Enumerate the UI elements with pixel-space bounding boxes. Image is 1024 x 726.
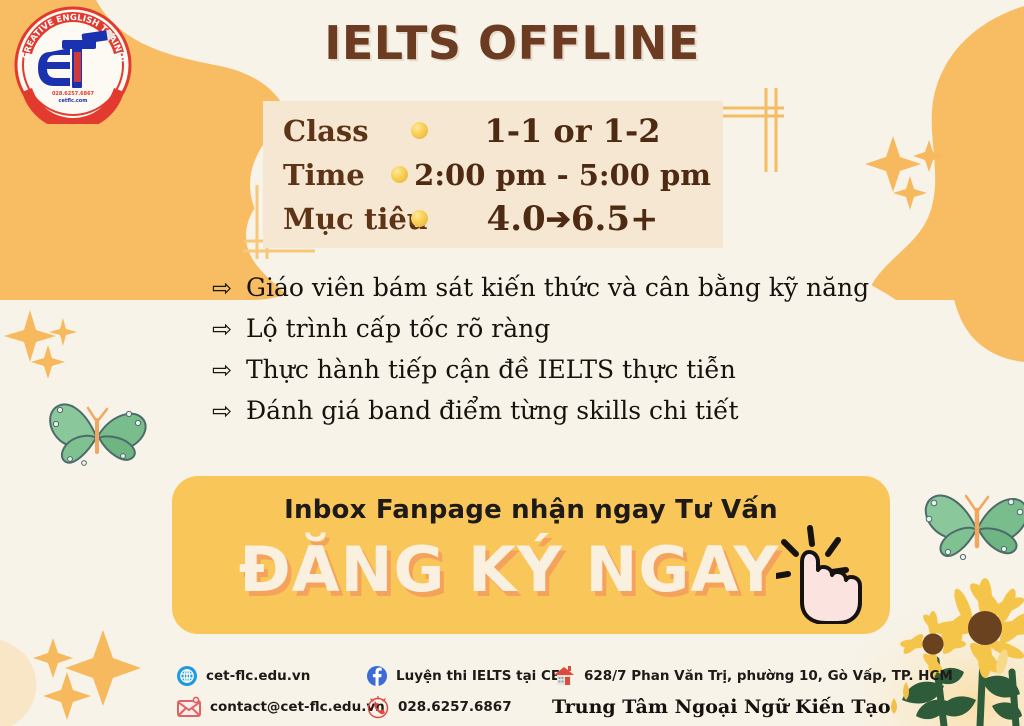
- list-item: ⇨ Thực hành tiếp cận đề IELTS thực tiễn: [212, 356, 912, 384]
- footer-website-label: cet-flc.edu.vn: [206, 668, 310, 684]
- goal-arrow-icon: ➔: [546, 202, 571, 237]
- phone-ring-icon: [366, 695, 390, 719]
- benefits-list: ⇨ Giáo viên bám sát kiến thức và cân bằn…: [212, 274, 912, 438]
- info-label-class: Class: [283, 114, 411, 148]
- info-row-time: Time 2:00 pm - 5:00 pm: [283, 153, 715, 197]
- footer-row-top: cet-flc.edu.vn Luyện thi IELTS tại CET: [176, 660, 976, 691]
- svg-text:028.6257.6867: 028.6257.6867: [52, 91, 95, 97]
- butterfly-left: [44, 390, 154, 482]
- footer-facebook-label: Luyện thi IELTS tại CET: [396, 668, 569, 684]
- goal-from: 4.0: [487, 199, 546, 239]
- cta-main-label: ĐĂNG KÝ NGAY: [172, 533, 846, 606]
- footer-address: 628/7 Phan Văn Trị, phường 10, Gò Vấp, T…: [552, 665, 953, 687]
- list-item-label: Đánh giá band điểm từng skills chi tiết: [246, 397, 739, 425]
- footer-phone[interactable]: 028.6257.6867: [366, 695, 552, 719]
- arrow-right-icon: ⇨: [212, 398, 246, 425]
- poster-title: IELTS OFFLINE: [0, 16, 1024, 70]
- register-cta-banner[interactable]: Inbox Fanpage nhận ngay Tư Vấn ĐĂNG KÝ N…: [172, 476, 890, 634]
- list-item-label: Thực hành tiếp cận đề IELTS thực tiễn: [246, 356, 736, 384]
- poster-canvas: CREATIVE ENGLISH TRAINING 028.6257.6867 …: [0, 0, 1024, 726]
- list-item: ⇨ Giáo viên bám sát kiến thức và cân bằn…: [212, 274, 912, 302]
- butterfly-right: [918, 478, 1024, 578]
- cta-subtitle: Inbox Fanpage nhận ngay Tư Vấn: [172, 495, 890, 525]
- svg-text:cetflc.com: cetflc.com: [59, 98, 88, 104]
- footer-address-label: 628/7 Phan Văn Trị, phường 10, Gò Vấp, T…: [584, 668, 953, 684]
- footer-phone-label: 028.6257.6867: [398, 699, 512, 715]
- envelope-icon: [176, 696, 202, 718]
- info-row-class: Class 1-1 or 1-2: [283, 109, 715, 153]
- arrow-right-icon: ⇨: [212, 275, 246, 302]
- info-row-goal: Mục tiêu 4.0➔6.5+: [283, 197, 715, 241]
- bullet-dot-icon: [391, 166, 408, 183]
- list-item: ⇨ Lộ trình cấp tốc rõ ràng: [212, 315, 912, 343]
- footer-brand: Trung Tâm Ngoại Ngữ Kiến Tạo: [552, 696, 891, 718]
- arrow-right-icon: ⇨: [212, 357, 246, 384]
- class-info-box: Class 1-1 or 1-2 Time 2:00 pm - 5:00 pm …: [263, 101, 723, 248]
- info-value-class: 1-1 or 1-2: [434, 112, 715, 150]
- goal-to: 6.5+: [571, 199, 659, 239]
- house-icon: [552, 665, 576, 687]
- footer-row-bottom: contact@cet-flc.edu.vn 028.6257.6867 Tru…: [176, 691, 976, 722]
- footer-facebook[interactable]: Luyện thi IELTS tại CET: [366, 665, 552, 687]
- facebook-icon: [366, 665, 388, 687]
- list-item-label: Giáo viên bám sát kiến thức và cân bằng …: [246, 274, 869, 302]
- footer-email[interactable]: contact@cet-flc.edu.vn: [176, 696, 366, 718]
- info-label-time: Time: [283, 158, 391, 192]
- arrow-right-icon: ⇨: [212, 316, 246, 343]
- list-item-label: Lộ trình cấp tốc rõ ràng: [246, 315, 550, 343]
- infobox-corner-decoration-topright: [722, 88, 806, 178]
- click-hand-icon: [776, 524, 872, 624]
- globe-icon: [176, 665, 198, 687]
- bullet-dot-icon: [411, 210, 428, 227]
- footer-brand-label: Trung Tâm Ngoại Ngữ Kiến Tạo: [552, 696, 891, 718]
- bullet-dot-icon: [411, 122, 428, 139]
- footer-email-label: contact@cet-flc.edu.vn: [210, 699, 385, 715]
- footer-contact-bar: cet-flc.edu.vn Luyện thi IELTS tại CET: [176, 660, 976, 722]
- info-label-goal: Mục tiêu: [283, 202, 411, 236]
- info-value-goal: 4.0➔6.5+: [434, 199, 715, 239]
- list-item: ⇨ Đánh giá band điểm từng skills chi tiế…: [212, 397, 912, 425]
- footer-website[interactable]: cet-flc.edu.vn: [176, 665, 366, 687]
- info-value-time: 2:00 pm - 5:00 pm: [414, 158, 715, 192]
